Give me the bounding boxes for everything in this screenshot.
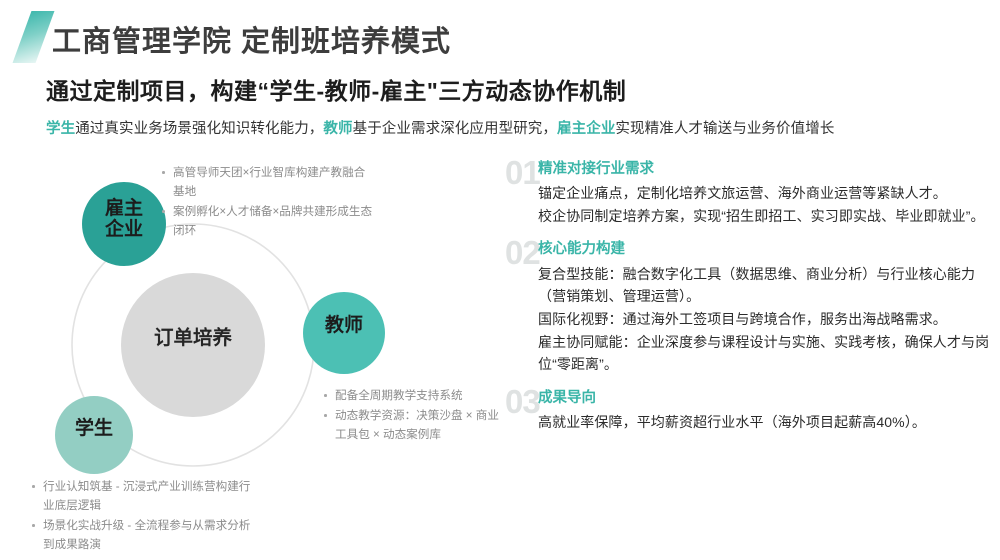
lead-highlight-teacher: 教师 bbox=[323, 121, 352, 137]
section-01: 01 精准对接行业需求 锚定企业痛点，定制化培养文旅运营、海外商业运营等紧缺人才… bbox=[500, 160, 1000, 227]
teacher-bullet-list: 配备全周期教学支持系统 动态教学资源：决策沙盘 × 商业工具包 × 动态案例库 bbox=[322, 386, 502, 445]
lead-highlight-employer: 雇主企业 bbox=[557, 121, 615, 137]
collaboration-diagram: 雇主 企业 教师 学生 订单培养 高管导师天团×行业智库构建产教融合基地 案例孵… bbox=[0, 150, 495, 560]
student-bullet-list: 行业认知筑基 - 沉浸式产业训练营构建行业底层逻辑 场景化实战升级 - 全流程参… bbox=[30, 477, 260, 556]
lead-text-3: 实现精准人才输送与业务价值增长 bbox=[615, 121, 834, 137]
list-item: 高管导师天团×行业智库构建产教融合基地 bbox=[160, 163, 375, 201]
lead-highlight-student: 学生 bbox=[46, 121, 75, 137]
section-line: 雇主协同赋能：企业深度参与课程设计与实施、实践考核，确保人才与岗位“零距离”。 bbox=[538, 331, 1000, 376]
section-line: 复合型技能：融合数字化工具（数据思维、商业分析）与行业核心能力（营销策划、管理运… bbox=[538, 263, 1000, 308]
section-02: 02 核心能力构建 复合型技能：融合数字化工具（数据思维、商业分析）与行业核心能… bbox=[500, 240, 1000, 375]
section-line: 锚定企业痛点，定制化培养文旅运营、海外商业运营等紧缺人才。 bbox=[538, 182, 1000, 205]
list-item: 案例孵化×人才储备×品牌共建形成生态闭环 bbox=[160, 202, 375, 240]
section-line: 校企协同制定培养方案，实现“招生即招工、实习即实战、毕业即就业”。 bbox=[538, 205, 1000, 228]
list-item: 动态教学资源：决策沙盘 × 商业工具包 × 动态案例库 bbox=[322, 406, 502, 444]
section-body: 锚定企业痛点，定制化培养文旅运营、海外商业运营等紧缺人才。 校企协同制定培养方案… bbox=[538, 182, 1000, 227]
section-03: 03 成果导向 高就业率保障，平均薪资超行业水平（海外项目起薪高40%）。 bbox=[500, 389, 1000, 434]
node-circle-student bbox=[55, 396, 133, 474]
slanted-bar-accent-icon bbox=[13, 11, 55, 63]
page-title: 工商管理学院 定制班培养模式 bbox=[52, 18, 451, 60]
lead-text-2: 基于企业需求深化应用型研究， bbox=[353, 121, 557, 137]
section-body: 复合型技能：融合数字化工具（数据思维、商业分析）与行业核心能力（营销策划、管理运… bbox=[538, 263, 1000, 376]
list-item: 行业认知筑基 - 沉浸式产业训练营构建行业底层逻辑 bbox=[30, 477, 260, 515]
section-number: 03 bbox=[505, 385, 540, 418]
section-number: 02 bbox=[505, 236, 540, 269]
section-heading: 成果导向 bbox=[538, 389, 1000, 407]
section-heading: 核心能力构建 bbox=[538, 240, 1000, 258]
list-item: 场景化实战升级 - 全流程参与从需求分析到成果路演 bbox=[30, 516, 260, 554]
section-number: 01 bbox=[505, 156, 540, 189]
slide-root: 工商管理学院 定制班培养模式 通过定制项目，构建“学生-教师-雇主"三方动态协作… bbox=[0, 0, 1000, 560]
section-body: 高就业率保障，平均薪资超行业水平（海外项目起薪高40%）。 bbox=[538, 411, 1000, 434]
detail-sections: 01 精准对接行业需求 锚定企业痛点，定制化培养文旅运营、海外商业运营等紧缺人才… bbox=[500, 160, 1000, 447]
list-item: 配备全周期教学支持系统 bbox=[322, 386, 502, 405]
section-line: 高就业率保障，平均薪资超行业水平（海外项目起薪高40%）。 bbox=[538, 411, 1000, 434]
node-circle-employer bbox=[82, 182, 166, 266]
lead-paragraph: 学生通过真实业务场景强化知识转化能力，教师基于企业需求深化应用型研究，雇主企业实… bbox=[46, 117, 834, 138]
node-circle-teacher bbox=[303, 292, 385, 374]
section-heading: 精准对接行业需求 bbox=[538, 160, 1000, 178]
lead-text-1: 通过真实业务场景强化知识转化能力， bbox=[75, 121, 323, 137]
page-subtitle: 通过定制项目，构建“学生-教师-雇主"三方动态协作机制 bbox=[46, 72, 626, 106]
section-line: 国际化视野：通过海外工签项目与跨境合作，服务出海战略需求。 bbox=[538, 308, 1000, 331]
employer-bullet-list: 高管导师天团×行业智库构建产教融合基地 案例孵化×人才储备×品牌共建形成生态闭环 bbox=[160, 163, 375, 242]
center-circle bbox=[121, 273, 265, 417]
